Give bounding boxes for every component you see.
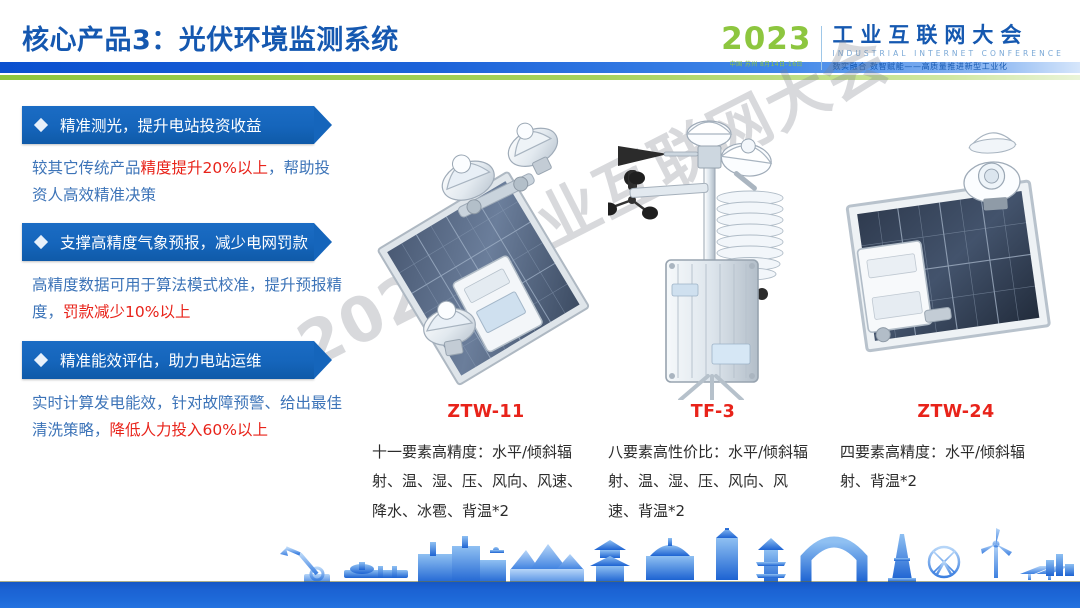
bullet-body-pre: 较其它传统产品 bbox=[32, 159, 141, 177]
product-card: ZTW-24 四要素高精度：水平/倾斜辐射、背温*2 bbox=[840, 108, 1072, 497]
bullet-banner-label: 精准能效评估，助力电站运维 bbox=[60, 349, 262, 371]
bullet-banner: 支撑高精度气象预报，减少电网罚款 bbox=[22, 223, 314, 261]
product-image-ztw-24 bbox=[840, 108, 1072, 400]
bullet-group: 精准测光，提升电站投资收益 较其它传统产品精度提升20%以上，帮助投资人高效精准… bbox=[22, 106, 352, 209]
bullet-banner: 精准测光，提升电站投资收益 bbox=[22, 106, 314, 144]
footer-decoration bbox=[0, 528, 1080, 608]
product-card: ZTW-11 十一要素高精度：水平/倾斜辐射、温、湿、压、风向、风速、降水、冰雹… bbox=[372, 108, 600, 526]
bullet-body-highlight: 降低人力投入60%以上 bbox=[110, 421, 268, 439]
bullet-banner-label: 精准测光，提升电站投资收益 bbox=[60, 114, 262, 136]
product-description: 十一要素高精度：水平/倾斜辐射、温、湿、压、风向、风速、降水、冰雹、背温*2 bbox=[372, 438, 590, 526]
bullet-group: 精准能效评估，助力电站运维 实时计算发电能效，针对故障预警、给出最佳清洗策略，降… bbox=[22, 341, 352, 444]
logo-name-en: INDUSTRIAL INTERNET CONFERENCE bbox=[832, 49, 1064, 58]
bullet-body: 实时计算发电能效，针对故障预警、给出最佳清洗策略，降低人力投入60%以上 bbox=[32, 390, 344, 444]
product-name: TF-3 bbox=[608, 402, 818, 422]
conference-logo: 2023 中国·苏州 8月14日-16日 工业互联网大会 INDUSTRIAL … bbox=[721, 24, 1064, 72]
bullet-body-highlight: 罚款减少10%以上 bbox=[63, 303, 190, 321]
footer-water-band bbox=[0, 582, 1080, 608]
product-name: ZTW-11 bbox=[372, 402, 600, 422]
logo-tagline: 数实融合 数智赋能——高质量推进新型工业化 bbox=[832, 61, 1064, 72]
header-green-bar bbox=[0, 75, 1080, 80]
product-name: ZTW-24 bbox=[840, 402, 1072, 422]
product-card: TF-3 八要素高性价比：水平/倾斜辐射、温、湿、压、风向、风速、背温*2 bbox=[608, 108, 818, 526]
product-description: 八要素高性价比：水平/倾斜辐射、温、湿、压、风向、风速、背温*2 bbox=[608, 438, 813, 526]
bullet-list: 精准测光，提升电站投资收益 较其它传统产品精度提升20%以上，帮助投资人高效精准… bbox=[22, 106, 352, 458]
product-image-tf-3 bbox=[608, 108, 818, 400]
city-skyline-icon bbox=[0, 528, 1080, 584]
solar-panel-pyranometer-station-icon bbox=[372, 108, 600, 400]
product-image-ztw-11 bbox=[372, 108, 600, 400]
solar-panel-enclosure-sensor-icon bbox=[840, 108, 1072, 400]
bullet-body: 高精度数据可用于算法模式校准，提升预报精度，罚款减少10%以上 bbox=[32, 272, 344, 326]
diamond-bullet-icon bbox=[34, 352, 48, 366]
product-gallery: ZTW-11 十一要素高精度：水平/倾斜辐射、温、湿、压、风向、风速、降水、冰雹… bbox=[372, 108, 1072, 578]
logo-year: 2023 bbox=[721, 24, 811, 55]
slide-root: 核心产品3：光伏环境监测系统 2023 中国·苏州 8月14日-16日 工业互联… bbox=[0, 0, 1080, 608]
bullet-group: 支撑高精度气象预报，减少电网罚款 高精度数据可用于算法模式校准，提升预报精度，罚… bbox=[22, 223, 352, 326]
logo-name-block: 工业互联网大会 INDUSTRIAL INTERNET CONFERENCE 数… bbox=[822, 24, 1064, 72]
bullet-body-highlight: 精度提升20%以上 bbox=[141, 159, 268, 177]
logo-year-block: 2023 中国·苏州 8月14日-16日 bbox=[721, 24, 821, 68]
logo-location: 中国·苏州 8月14日-16日 bbox=[730, 59, 803, 68]
product-description: 四要素高精度：水平/倾斜辐射、背温*2 bbox=[840, 438, 1030, 497]
logo-name-cn: 工业互联网大会 bbox=[832, 24, 1064, 46]
bullet-body: 较其它传统产品精度提升20%以上，帮助投资人高效精准决策 bbox=[32, 155, 344, 209]
bullet-banner-label: 支撑高精度气象预报，减少电网罚款 bbox=[60, 231, 308, 253]
page-title: 核心产品3：光伏环境监测系统 bbox=[22, 18, 399, 57]
tripod-weather-station-icon bbox=[608, 108, 818, 400]
diamond-bullet-icon bbox=[34, 235, 48, 249]
bullet-banner: 精准能效评估，助力电站运维 bbox=[22, 341, 314, 379]
diamond-bullet-icon bbox=[34, 118, 48, 132]
